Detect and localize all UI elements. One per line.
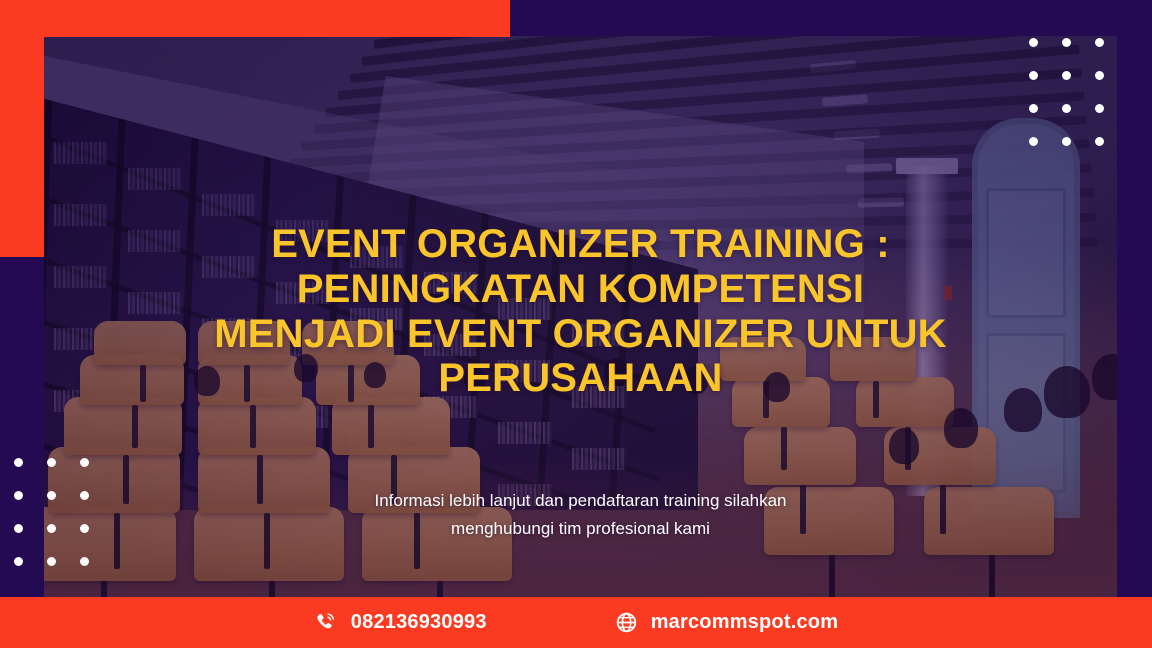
headline-line: MENJADI EVENT ORGANIZER UNTUK — [104, 312, 1057, 357]
decorative-dot — [80, 557, 89, 566]
globe-icon — [615, 611, 638, 634]
phone-number: 082136930993 — [351, 611, 487, 634]
decorative-dot — [1095, 71, 1104, 80]
subtitle-line: Informasi lebih lanjut dan pendaftaran t… — [234, 487, 927, 515]
page-title: EVENT ORGANIZER TRAINING : PENINGKATAN K… — [44, 222, 1117, 401]
decorative-dot — [1029, 137, 1038, 146]
phone-ringing-icon — [314, 611, 338, 635]
decorative-dot — [1095, 38, 1104, 47]
subtitle-line: menghubungi tim profesional kami — [234, 515, 927, 543]
subtitle: Informasi lebih lanjut dan pendaftaran t… — [44, 487, 1117, 542]
decorative-dot — [1062, 137, 1071, 146]
dot-grid-top-right — [1029, 38, 1128, 170]
headline-line: PERUSAHAAN — [104, 356, 1057, 401]
decorative-dot — [1095, 104, 1104, 113]
decorative-dot — [14, 524, 23, 533]
decorative-dot — [1095, 137, 1104, 146]
headline-line: EVENT ORGANIZER TRAINING : — [104, 222, 1057, 267]
decorative-dot — [80, 458, 89, 467]
decorative-dot — [14, 491, 23, 500]
contact-footer: 082136930993 marcommspot.com — [0, 597, 1152, 648]
promotional-banner: EVENT ORGANIZER TRAINING : PENINGKATAN K… — [0, 0, 1152, 648]
decorative-dot — [1062, 38, 1071, 47]
contact-phone[interactable]: 082136930993 — [314, 611, 487, 635]
decorative-dot — [1029, 104, 1038, 113]
red-block-left — [0, 0, 44, 257]
website-url: marcommspot.com — [651, 611, 839, 634]
decorative-dot — [1029, 38, 1038, 47]
decorative-dot — [47, 557, 56, 566]
decorative-dot — [47, 458, 56, 467]
decorative-dot — [1029, 71, 1038, 80]
audience-silhouette — [889, 428, 919, 464]
headline-line: PENINGKATAN KOMPETENSI — [104, 267, 1057, 312]
audience-silhouette — [944, 408, 978, 448]
red-block-top — [0, 0, 510, 37]
decorative-dot — [14, 458, 23, 467]
contact-website[interactable]: marcommspot.com — [615, 611, 839, 634]
decorative-dot — [14, 557, 23, 566]
decorative-dot — [1062, 104, 1071, 113]
decorative-dot — [1062, 71, 1071, 80]
